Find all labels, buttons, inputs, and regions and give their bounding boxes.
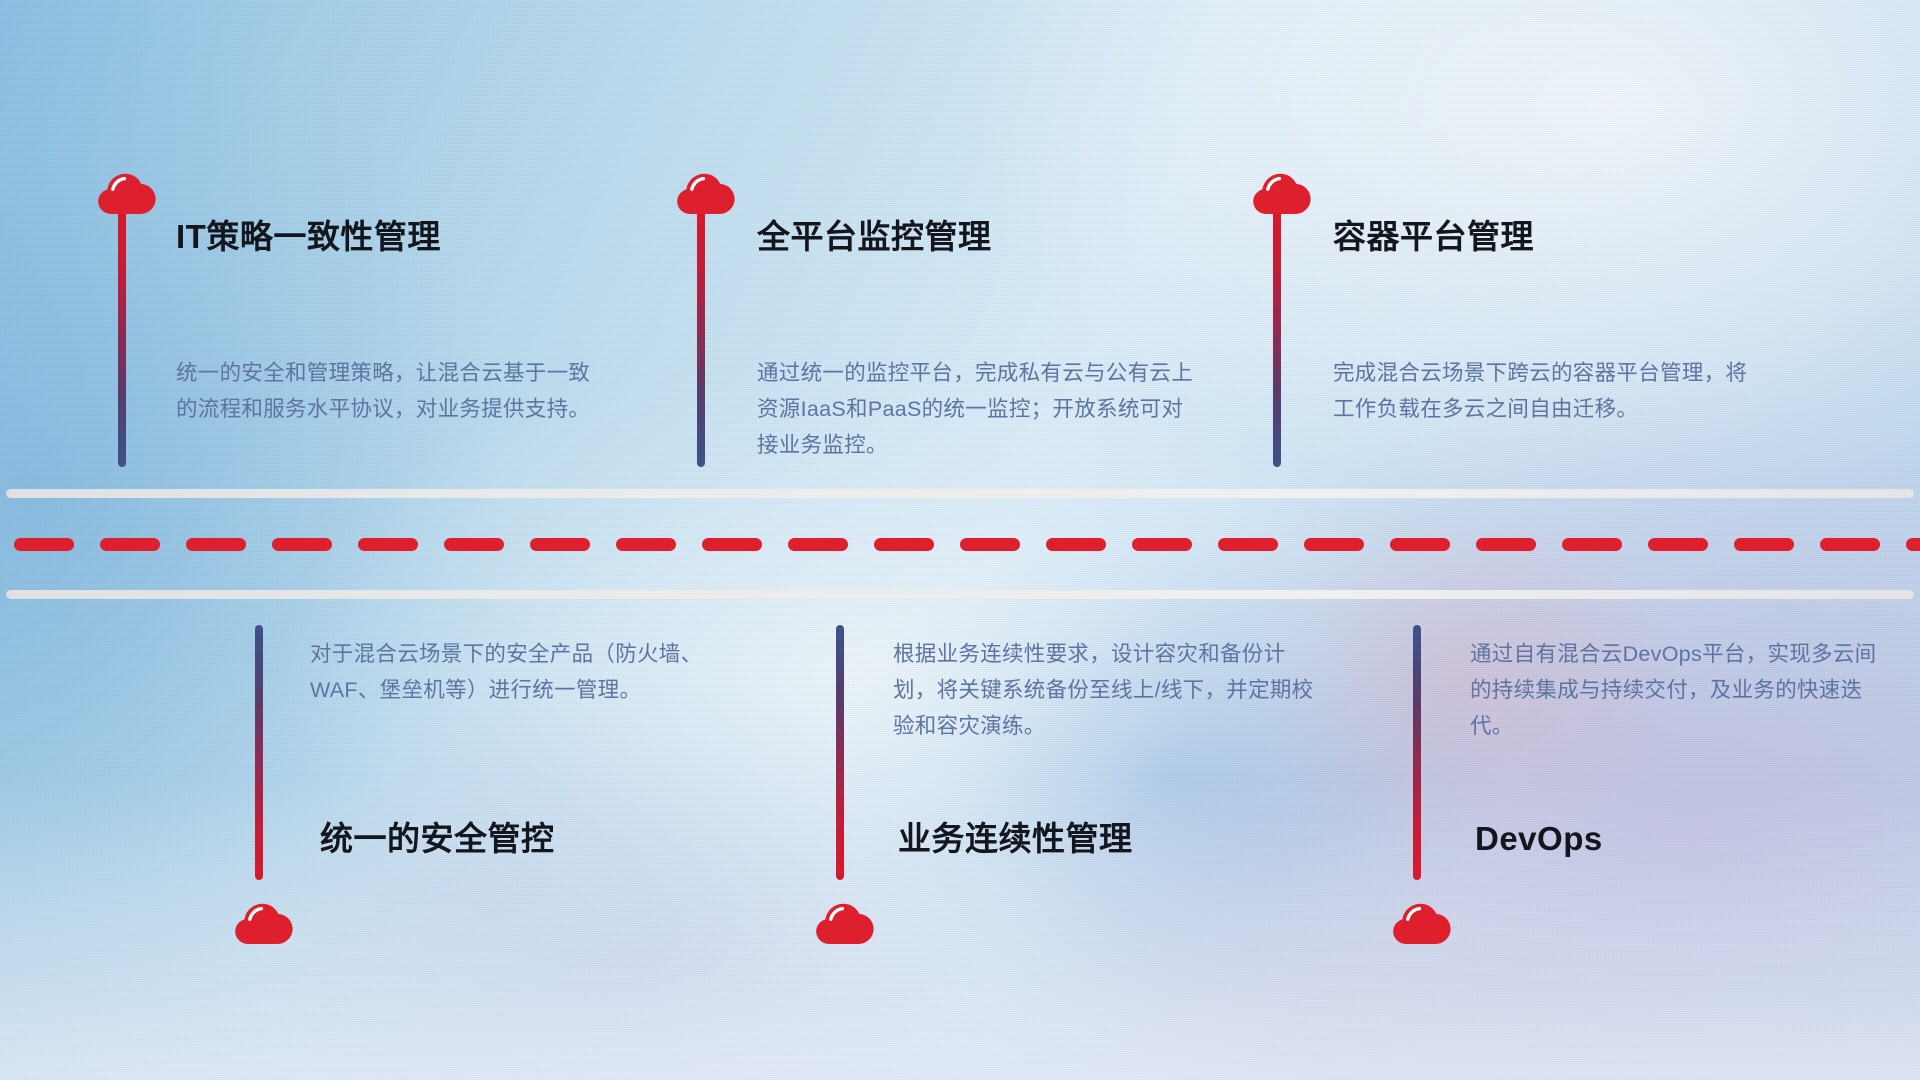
road-dash-segment [444, 538, 504, 551]
top-node-2-body: 通过统一的监控平台，完成私有云与公有云上资源IaaS和PaaS的统一监控；开放系… [757, 355, 1202, 463]
cloud-icon [815, 893, 877, 945]
road-dash-segment [1304, 538, 1364, 551]
road-dash-segment [14, 538, 74, 551]
cloud-icon [234, 893, 296, 945]
road-dash-segment [1820, 538, 1880, 551]
road-dash-segment [530, 538, 590, 551]
road-dash-segment [874, 538, 934, 551]
cloud-icon [1252, 163, 1314, 215]
road-dash-segment [702, 538, 762, 551]
road-divider [0, 489, 1920, 599]
stem-line [697, 210, 705, 467]
road-dash-segment [1906, 538, 1920, 551]
stem-line [1273, 210, 1281, 467]
road-dash-segment [1562, 538, 1622, 551]
road-dash-segment [1476, 538, 1536, 551]
road-dash-segment [1046, 538, 1106, 551]
road-dash-segment [788, 538, 848, 551]
road-center-dashed-line [0, 537, 1920, 551]
road-dash-segment [1734, 538, 1794, 551]
top-node-2-heading: 全平台监控管理 [757, 220, 992, 253]
road-dash-segment [358, 538, 418, 551]
stem-line [118, 210, 126, 467]
road-edge-top-line [6, 489, 1914, 498]
bottom-node-3-heading: DevOps [1475, 822, 1603, 855]
road-dash-segment [616, 538, 676, 551]
top-node-3-heading: 容器平台管理 [1333, 220, 1534, 253]
road-dash-segment [186, 538, 246, 551]
stem-line [255, 625, 263, 880]
stem-line [1413, 625, 1421, 880]
top-node-1-body: 统一的安全和管理策略，让混合云基于一致的流程和服务水平协议，对业务提供支持。 [176, 355, 606, 427]
road-dash-segment [1648, 538, 1708, 551]
road-dash-segment [960, 538, 1020, 551]
top-node-1-heading: IT策略一致性管理 [176, 220, 441, 253]
cloud-icon [676, 163, 738, 215]
cloud-icon [97, 163, 159, 215]
top-node-3-body: 完成混合云场景下跨云的容器平台管理，将工作负载在多云之间自由迁移。 [1333, 355, 1768, 427]
road-edge-bottom-line [6, 590, 1914, 599]
stem-line [836, 625, 844, 880]
bottom-node-3-body: 通过自有混合云DevOps平台，实现多云间的持续集成与持续交付，及业务的快速迭代… [1470, 636, 1890, 744]
bottom-node-2-heading: 业务连续性管理 [898, 822, 1133, 855]
bottom-node-1-heading: 统一的安全管控 [320, 822, 555, 855]
road-dash-segment [272, 538, 332, 551]
road-dash-segment [100, 538, 160, 551]
cloud-icon [1392, 893, 1454, 945]
road-dash-segment [1218, 538, 1278, 551]
bottom-node-1-body: 对于混合云场景下的安全产品（防火墙、WAF、堡垒机等）进行统一管理。 [310, 636, 735, 708]
road-dash-segment [1390, 538, 1450, 551]
infographic-canvas: IT策略一致性管理 统一的安全和管理策略，让混合云基于一致的流程和服务水平协议，… [0, 0, 1920, 1080]
bottom-node-2-body: 根据业务连续性要求，设计容灾和备份计划，将关键系统备份至线上/线下，并定期校验和… [893, 636, 1318, 744]
road-dash-segment [1132, 538, 1192, 551]
